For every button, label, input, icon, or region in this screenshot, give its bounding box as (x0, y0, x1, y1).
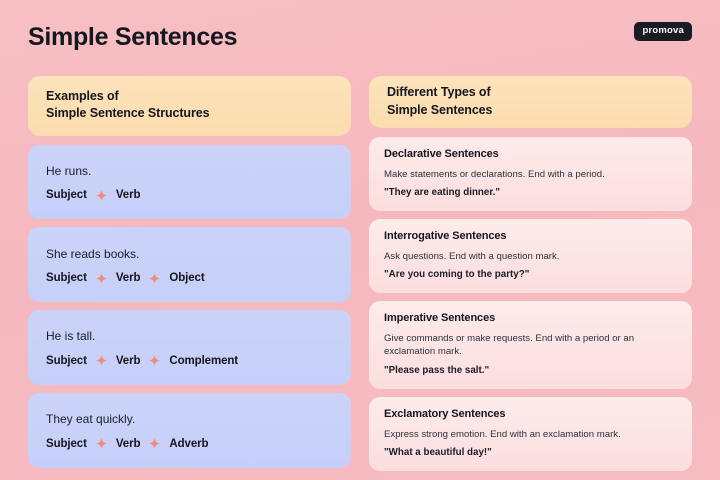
sentence-type-description: Make statements or declarations. End wit… (384, 168, 677, 182)
structure-card[interactable]: He is tall. Subject Verb Complement (28, 310, 351, 385)
sentence-type-example: "Are you coming to the party?" (384, 268, 677, 282)
plus-icon (96, 190, 107, 201)
right-column: Different Types of Simple Sentences Decl… (369, 76, 692, 468)
sentence-type-card[interactable]: Interrogative Sentences Ask questions. E… (369, 219, 692, 293)
formula-part: Subject (46, 438, 87, 450)
sentence-type-card-list: Declarative Sentences Make statements or… (369, 137, 692, 471)
structure-formula: Subject Verb Object (46, 272, 333, 284)
formula-part: Subject (46, 355, 87, 367)
formula-part: Verb (116, 189, 141, 201)
structure-card[interactable]: She reads books. Subject Verb Object (28, 227, 351, 302)
sentence-type-title: Imperative Sentences (384, 312, 677, 326)
sentence-type-example: "What a beautiful day!" (384, 446, 677, 460)
formula-part: Adverb (169, 438, 208, 450)
left-header-line-2: Simple Sentence Structures (46, 105, 333, 122)
infographic-page: Simple Sentences promova Examples of Sim… (0, 0, 720, 480)
plus-icon (149, 438, 160, 449)
plus-icon (96, 438, 107, 449)
promova-logo: promova (634, 22, 692, 41)
right-header-line-2: Simple Sentences (387, 102, 674, 119)
structure-card[interactable]: They eat quickly. Subject Verb Adverb (28, 393, 351, 468)
formula-part: Subject (46, 189, 87, 201)
sentence-type-description: Ask questions. End with a question mark. (384, 250, 677, 264)
structure-formula: Subject Verb Complement (46, 355, 333, 367)
structure-example-sentence: She reads books. (46, 247, 333, 261)
left-header-line-1: Examples of (46, 88, 333, 105)
plus-icon (96, 273, 107, 284)
right-column-header: Different Types of Simple Sentences (369, 76, 692, 128)
sentence-type-card[interactable]: Exclamatory Sentences Express strong emo… (369, 397, 692, 471)
structure-card[interactable]: He runs. Subject Verb (28, 145, 351, 220)
sentence-type-title: Interrogative Sentences (384, 230, 677, 244)
plus-icon (96, 355, 107, 366)
structure-formula: Subject Verb (46, 189, 333, 201)
formula-part: Complement (169, 355, 238, 367)
formula-part: Verb (116, 272, 141, 284)
formula-part: Verb (116, 355, 141, 367)
header-row: Simple Sentences promova (28, 22, 692, 62)
formula-part: Object (169, 272, 204, 284)
sentence-type-title: Exclamatory Sentences (384, 408, 677, 422)
left-column-header: Examples of Simple Sentence Structures (28, 76, 351, 136)
sentence-type-example: "They are eating dinner." (384, 186, 677, 200)
formula-part: Verb (116, 438, 141, 450)
sentence-type-description: Give commands or make requests. End with… (384, 332, 677, 359)
right-header-line-1: Different Types of (387, 84, 674, 101)
left-column: Examples of Simple Sentence Structures H… (28, 76, 351, 468)
formula-part: Subject (46, 272, 87, 284)
plus-icon (149, 355, 160, 366)
structure-card-list: He runs. Subject Verb She reads books. S… (28, 145, 351, 469)
sentence-type-card[interactable]: Imperative Sentences Give commands or ma… (369, 301, 692, 389)
plus-icon (149, 273, 160, 284)
structure-example-sentence: He runs. (46, 164, 333, 178)
structure-example-sentence: He is tall. (46, 329, 333, 343)
sentence-type-card[interactable]: Declarative Sentences Make statements or… (369, 137, 692, 211)
structure-example-sentence: They eat quickly. (46, 412, 333, 426)
sentence-type-title: Declarative Sentences (384, 148, 677, 162)
structure-formula: Subject Verb Adverb (46, 438, 333, 450)
sentence-type-example: "Please pass the salt." (384, 364, 677, 378)
sentence-type-description: Express strong emotion. End with an excl… (384, 428, 677, 442)
columns-container: Examples of Simple Sentence Structures H… (28, 76, 692, 468)
page-title: Simple Sentences (28, 22, 237, 52)
